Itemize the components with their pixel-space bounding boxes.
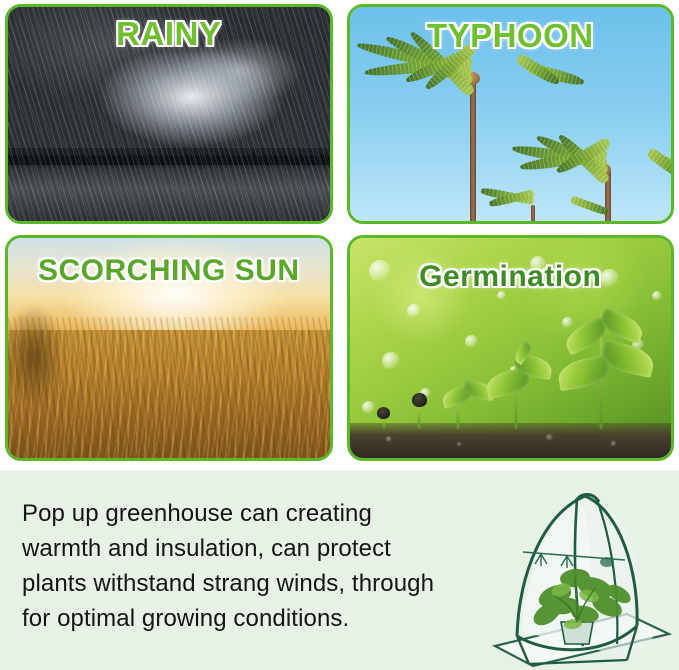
panel-scorching-sun: SCORCHING SUN bbox=[5, 235, 333, 461]
panel-label-germination: Germination bbox=[350, 260, 672, 294]
seedling-stage-1 bbox=[376, 407, 392, 429]
product-feature-graphic: RAINY bbox=[0, 0, 679, 670]
description-line-3: plants withstand strang winds, through bbox=[22, 566, 502, 601]
seedling-stage-4 bbox=[490, 337, 564, 429]
panel-typhoon: TYPHOON bbox=[347, 4, 675, 224]
panel-label-typhoon: TYPHOON bbox=[350, 17, 672, 55]
palm-tree-far-icon bbox=[530, 165, 538, 224]
description-line-1: Pop up greenhouse can creating bbox=[22, 496, 502, 531]
panel-label-scorching-sun: SCORCHING SUN bbox=[8, 254, 330, 288]
description-text: Pop up greenhouse can creating warmth an… bbox=[22, 496, 502, 636]
foreground-bush bbox=[5, 304, 64, 410]
panel-label-rainy: RAINY bbox=[8, 15, 330, 53]
description-band: Pop up greenhouse can creating warmth an… bbox=[0, 470, 679, 670]
seedling-stage-2 bbox=[410, 395, 428, 429]
feature-panel-grid: RAINY bbox=[0, 0, 679, 462]
pop-up-greenhouse-image bbox=[477, 474, 677, 670]
panel-rainy: RAINY bbox=[5, 4, 333, 224]
seedling-stage-5 bbox=[560, 293, 664, 429]
panel-germination: Germination bbox=[347, 235, 675, 461]
palm-tree-right-icon bbox=[603, 81, 613, 224]
description-line-4: for optimal growing conditions. bbox=[22, 601, 502, 636]
description-line-2: warmth and insulation, can protect bbox=[22, 531, 502, 566]
